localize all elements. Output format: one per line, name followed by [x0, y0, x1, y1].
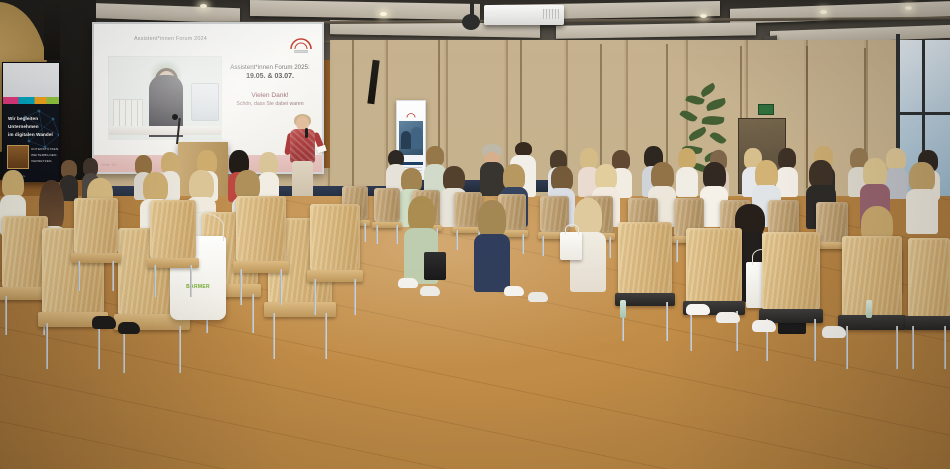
- person-torso: [474, 234, 510, 292]
- chair[interactable]: [374, 188, 400, 244]
- chair-leg: [154, 265, 156, 297]
- ceiling-projector: [484, 5, 564, 25]
- plant-leaf: [687, 126, 708, 141]
- chair-leg: [666, 302, 668, 341]
- chair-back: [762, 232, 820, 311]
- banner-headline-line3: im digitalen Wandel: [8, 131, 54, 139]
- chair-leg: [314, 279, 316, 315]
- person-torso: [676, 167, 698, 197]
- shoe: [398, 278, 418, 288]
- chair[interactable]: [686, 228, 742, 350]
- chair-leg: [98, 323, 100, 369]
- plant-leaf: [709, 130, 726, 146]
- person-hair: [809, 160, 833, 188]
- chair-leg: [354, 279, 356, 315]
- ceiling-spotlight: [820, 10, 827, 14]
- slide-stock-photo: [108, 56, 222, 140]
- chair[interactable]: [842, 236, 902, 368]
- ceiling-spotlight: [700, 14, 707, 18]
- chair-leg: [944, 326, 946, 369]
- floor-bag[interactable]: [424, 252, 446, 280]
- slide-header-text: Assistent*innen Forum 2024: [134, 36, 284, 42]
- person-hair: [703, 162, 726, 189]
- ceiling-spotlight: [905, 6, 912, 10]
- shoe: [504, 286, 524, 296]
- photo-monitor: [191, 83, 219, 121]
- chair-back: [842, 236, 902, 318]
- chair-back: [686, 228, 742, 304]
- audience-member: [474, 200, 510, 290]
- chair-leg: [676, 240, 678, 262]
- chair-leg: [522, 234, 524, 254]
- chair[interactable]: [74, 198, 118, 290]
- ceiling-spotlight: [380, 12, 387, 16]
- banner-photo-person: [401, 131, 411, 149]
- chair-leg: [112, 261, 114, 291]
- shoe: [528, 292, 548, 302]
- person-hair: [755, 160, 778, 188]
- presenter-handheld-microphone: [305, 128, 308, 138]
- chair-leg: [325, 313, 327, 359]
- chair[interactable]: [236, 196, 286, 304]
- window-mullion: [898, 112, 950, 115]
- presenter-blouse: [290, 129, 315, 163]
- person-hair: [515, 142, 532, 156]
- chair[interactable]: [908, 238, 950, 368]
- person-torso: [906, 189, 938, 234]
- chair-leg: [78, 261, 80, 291]
- presenter-trousers: [292, 161, 313, 200]
- chair-leg: [46, 323, 48, 369]
- person-hair: [408, 196, 435, 232]
- chair-back: [236, 196, 286, 263]
- chair-leg: [609, 237, 611, 258]
- chair-leg: [280, 269, 282, 305]
- photo-desk: [109, 126, 221, 135]
- person-hair: [189, 170, 214, 200]
- chair-leg: [690, 311, 692, 351]
- chair-leg: [5, 296, 7, 335]
- banner-headline-line2: Unternehmen: [8, 123, 54, 131]
- shoe: [752, 320, 776, 332]
- water-bottle: [620, 300, 626, 318]
- chair-leg: [912, 326, 914, 369]
- forum-arc-logo-icon: [288, 32, 314, 54]
- conference-hall-photo: Assistent*innen Forum 2024 Assistent*inn…: [0, 0, 950, 469]
- bag-handle: [565, 224, 579, 235]
- shoe: [118, 322, 140, 334]
- chair-leg: [846, 326, 848, 370]
- audience-member: [906, 162, 938, 232]
- person-hair: [863, 158, 887, 187]
- person-hair: [143, 172, 168, 202]
- chair[interactable]: [150, 200, 196, 296]
- chair-leg: [456, 230, 458, 250]
- slide-page-number: Seite 19: [101, 162, 116, 167]
- chair[interactable]: [618, 222, 672, 340]
- shoe: [716, 312, 740, 323]
- audience-member: [676, 148, 698, 196]
- banner-inset-image: [7, 145, 29, 169]
- person-hair: [678, 148, 696, 169]
- chair-leg: [273, 313, 275, 359]
- chair-leg: [814, 319, 816, 361]
- photo-binders: [113, 99, 143, 129]
- person-hair: [478, 200, 506, 238]
- presenter-notes: [316, 145, 326, 153]
- chair-back: [908, 238, 950, 319]
- shoe: [92, 316, 116, 329]
- chair-back: [74, 198, 118, 255]
- plant-leaf: [679, 108, 698, 124]
- plant-leaf: [705, 98, 727, 112]
- chair-back: [310, 204, 360, 272]
- person-hair: [651, 162, 674, 189]
- slide-body-text: Assistent*innen Forum 2025: 19.05. & 03.…: [226, 64, 314, 107]
- chair-leg: [896, 326, 898, 370]
- slide-next-event-dates: 19.05. & 03.07.: [226, 72, 314, 83]
- banner-keywords: UNTERSTÜTZEN. WEITERBILDEN. VERNETZEN.: [31, 147, 57, 165]
- chair-back: [374, 188, 400, 223]
- person-hair: [2, 170, 24, 198]
- banner-headline: Wir begleiten Unternehmen im digitalen W…: [8, 115, 54, 138]
- plant-leaf: [702, 115, 725, 126]
- shoe: [420, 286, 440, 296]
- shoe: [822, 326, 846, 338]
- banner-photo-person: [411, 127, 422, 149]
- person-hair: [909, 162, 935, 192]
- chair[interactable]: [762, 232, 820, 360]
- shoe: [686, 304, 710, 315]
- exit-sign: [758, 104, 774, 115]
- ceiling-spotlight: [200, 4, 207, 8]
- slide-next-event-label: Assistent*innen Forum 2025:: [226, 64, 314, 72]
- slide-thanks-sub: Schön, dass Sie dabei waren: [226, 101, 314, 107]
- chair-leg: [190, 265, 192, 297]
- banner-headline-line1: Wir begleiten: [8, 115, 54, 123]
- chair-leg: [179, 326, 181, 374]
- banner-color-stripes: [3, 97, 59, 104]
- chair-leg: [240, 269, 242, 305]
- lectern-microphone: [172, 114, 178, 120]
- banner-logo-area: [3, 63, 59, 97]
- banner-keyword-3: VERNETZEN.: [31, 159, 57, 165]
- chair-back: [618, 222, 672, 295]
- water-bottle: [866, 300, 872, 318]
- person-hair: [426, 146, 444, 166]
- tote-bag[interactable]: [560, 232, 582, 260]
- chair-leg: [396, 225, 398, 244]
- banner-right-logo-icon: [406, 106, 416, 114]
- chair-leg: [376, 225, 378, 244]
- chair-back: [150, 200, 196, 260]
- rollup-banner-left: Wir begleiten Unternehmen im digitalen W…: [2, 62, 60, 182]
- chair-leg: [364, 223, 366, 242]
- slide-thanks: Vielen Dank!: [226, 92, 314, 99]
- chair-leg: [542, 236, 544, 256]
- projector-vent: [543, 9, 559, 19]
- chair[interactable]: [310, 204, 360, 314]
- dark-wall-strip: [44, 0, 60, 60]
- projector-swivel: [462, 14, 480, 30]
- presenter: [285, 116, 321, 200]
